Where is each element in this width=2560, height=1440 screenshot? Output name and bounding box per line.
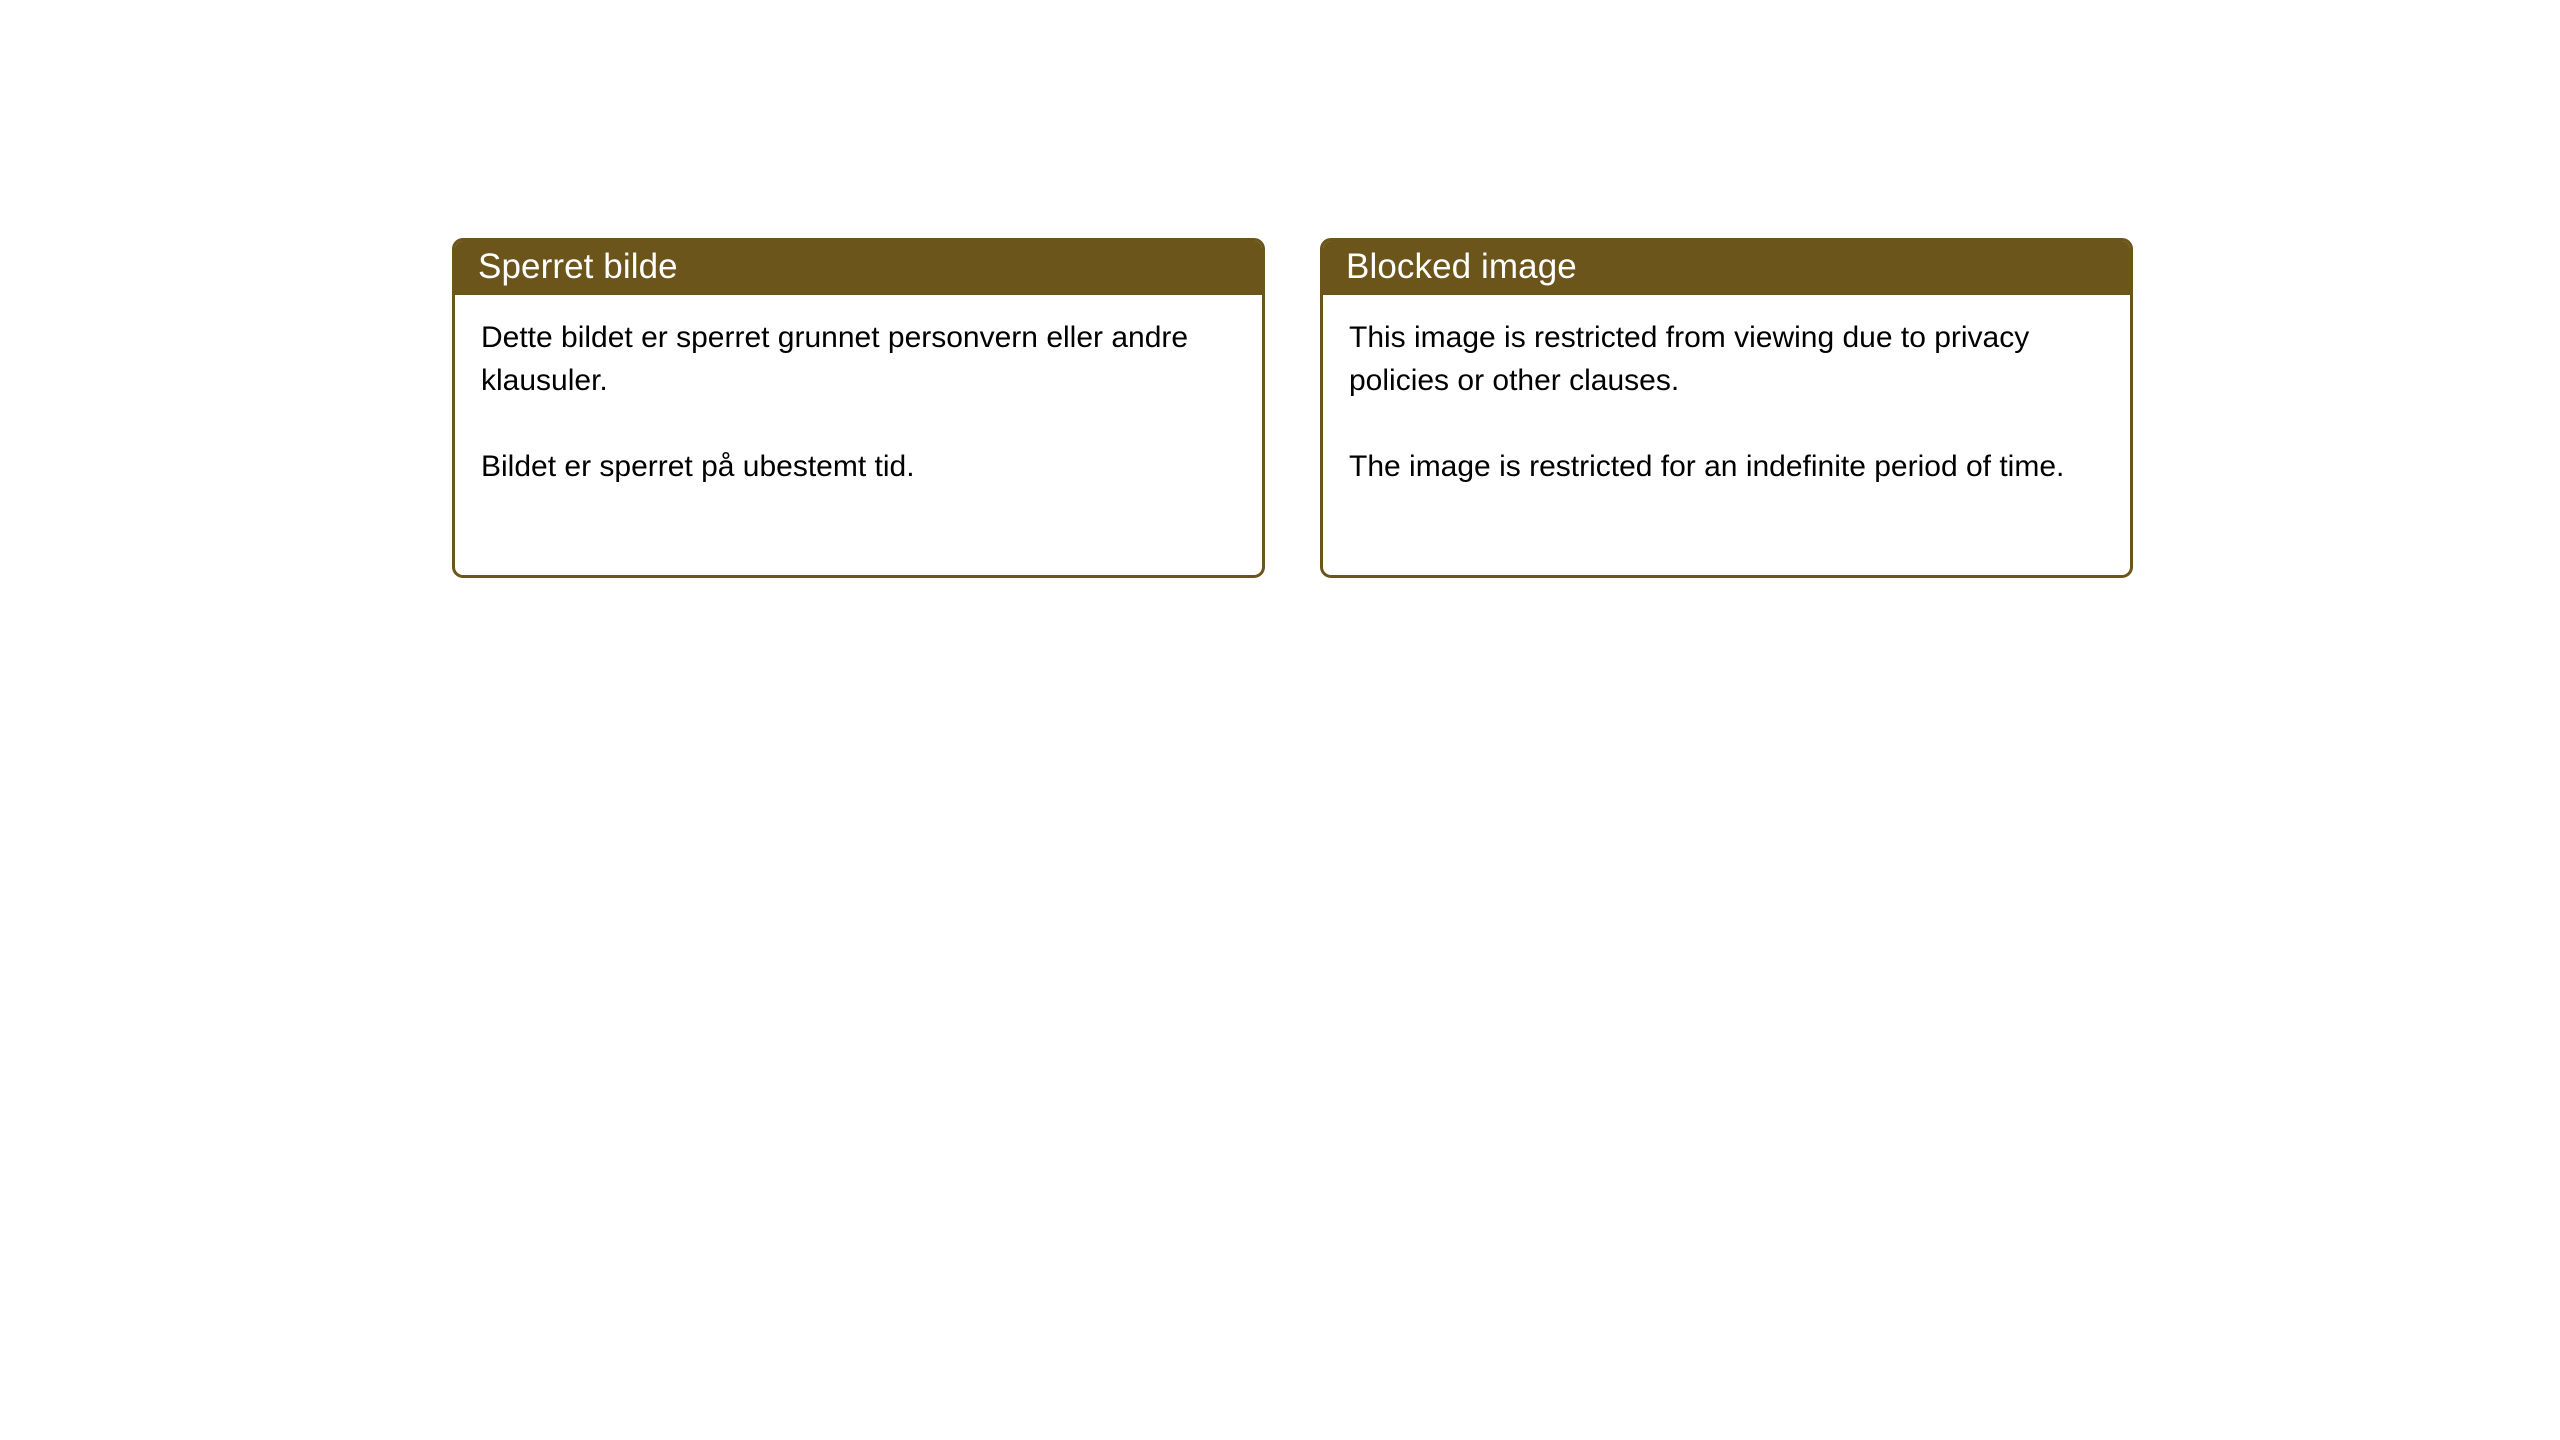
panel-body-norwegian: Dette bildet er sperret grunnet personve… xyxy=(455,295,1262,488)
panel-paragraph-duration-english: The image is restricted for an indefinit… xyxy=(1349,445,2104,488)
panel-header-english: Blocked image xyxy=(1320,238,2133,295)
panel-paragraph-reason-norwegian: Dette bildet er sperret grunnet personve… xyxy=(481,316,1236,402)
panel-title-norwegian: Sperret bilde xyxy=(478,247,678,287)
panel-body-english: This image is restricted from viewing du… xyxy=(1323,295,2130,488)
panel-paragraph-reason-english: This image is restricted from viewing du… xyxy=(1349,316,2104,402)
blocked-image-notice-norwegian: Sperret bilde Dette bildet er sperret gr… xyxy=(452,238,1265,578)
panel-title-english: Blocked image xyxy=(1346,247,1577,287)
panel-paragraph-duration-norwegian: Bildet er sperret på ubestemt tid. xyxy=(481,445,1236,488)
panel-header-norwegian: Sperret bilde xyxy=(452,238,1265,295)
page-canvas: Sperret bilde Dette bildet er sperret gr… xyxy=(0,0,2560,1440)
blocked-image-notice-english: Blocked image This image is restricted f… xyxy=(1320,238,2133,578)
